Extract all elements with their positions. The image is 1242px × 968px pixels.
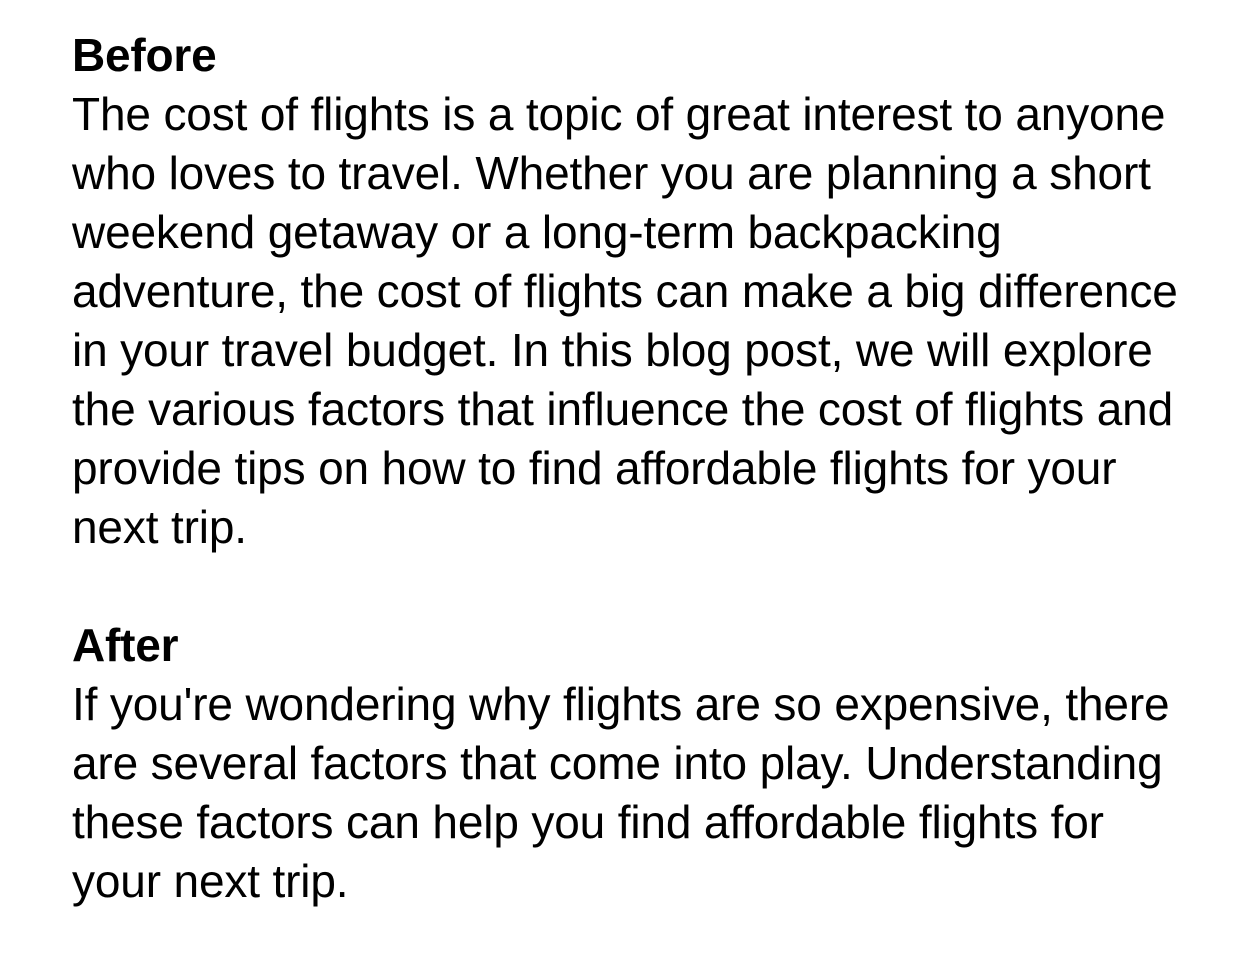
section-after: After If you're wondering why flights ar… xyxy=(72,616,1182,911)
paragraph-line: If you're wondering why flights are so e… xyxy=(72,675,1162,734)
paragraph-line: The cost of flights is a topic of great … xyxy=(72,85,1162,144)
section-heading-before: Before xyxy=(72,26,1182,85)
paragraph-line: your next trip. xyxy=(72,852,1162,911)
section-paragraph-after: If you're wondering why flights are so e… xyxy=(72,675,1162,911)
paragraph-line: the various factors that influence the c… xyxy=(72,380,1162,439)
section-paragraph-before: The cost of flights is a topic of great … xyxy=(72,85,1162,557)
section-before: Before The cost of flights is a topic of… xyxy=(72,26,1182,557)
paragraph-line: who loves to travel. Whether you are pla… xyxy=(72,144,1162,203)
paragraph-line: these factors can help you find affordab… xyxy=(72,793,1162,852)
paragraph-line: adventure, the cost of flights can make … xyxy=(72,262,1162,321)
section-heading-after: After xyxy=(72,616,1182,675)
paragraph-line: weekend getaway or a long-term backpacki… xyxy=(72,203,1162,262)
paragraph-line: are several factors that come into play.… xyxy=(72,734,1162,793)
paragraph-line: in your travel budget. In this blog post… xyxy=(72,321,1162,380)
paragraph-line: next trip. xyxy=(72,498,1162,557)
document-page: Before The cost of flights is a topic of… xyxy=(0,0,1242,968)
paragraph-line: provide tips on how to find affordable f… xyxy=(72,439,1162,498)
